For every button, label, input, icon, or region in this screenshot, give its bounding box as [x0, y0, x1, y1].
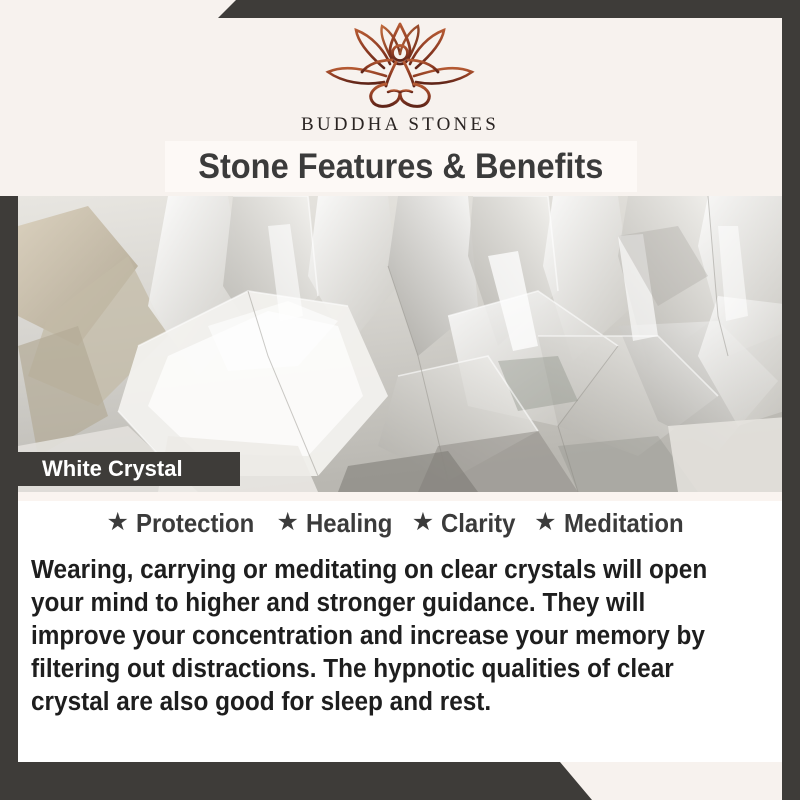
photo-caption: White Crystal [18, 452, 240, 486]
panel-top-tint [18, 492, 782, 501]
white-crystal-cluster-photo [18, 196, 800, 492]
star-icon: ★ [276, 510, 298, 535]
description-text: Wearing, carrying or meditating on clear… [31, 554, 738, 719]
brand-name: BUDDHA STONES [0, 114, 800, 136]
benefit-label: Clarity [441, 508, 515, 539]
frame-accent-right [782, 0, 800, 800]
benefit-label: Protection [136, 508, 254, 539]
benefit-item: ★ Clarity [412, 508, 522, 539]
benefit-item: ★ Healing [276, 508, 399, 539]
benefit-item: ★ Protection [106, 508, 264, 539]
photo-caption-label: White Crystal [18, 456, 183, 482]
benefit-label: Meditation [564, 508, 684, 539]
benefits-list: ★ Protection ★ Healing ★ Clarity ★ Medit… [18, 508, 782, 539]
frame-accent-bottom-left [0, 762, 800, 800]
page-title: Stone Features & Benefits [198, 147, 603, 187]
lotus-meditation-icon [322, 20, 478, 112]
star-icon: ★ [106, 510, 128, 535]
star-icon: ★ [412, 510, 434, 535]
star-icon: ★ [534, 510, 556, 535]
content-panel: ★ Protection ★ Healing ★ Clarity ★ Medit… [18, 492, 782, 762]
frame-accent-left [0, 196, 18, 800]
brand-logo: BUDDHA STONES [0, 20, 800, 136]
title-banner: Stone Features & Benefits [165, 141, 637, 192]
benefit-item: ★ Meditation [534, 508, 693, 539]
poster: BUDDHA STONES Stone Features & Benefits [0, 0, 800, 800]
benefit-label: Healing [306, 508, 392, 539]
